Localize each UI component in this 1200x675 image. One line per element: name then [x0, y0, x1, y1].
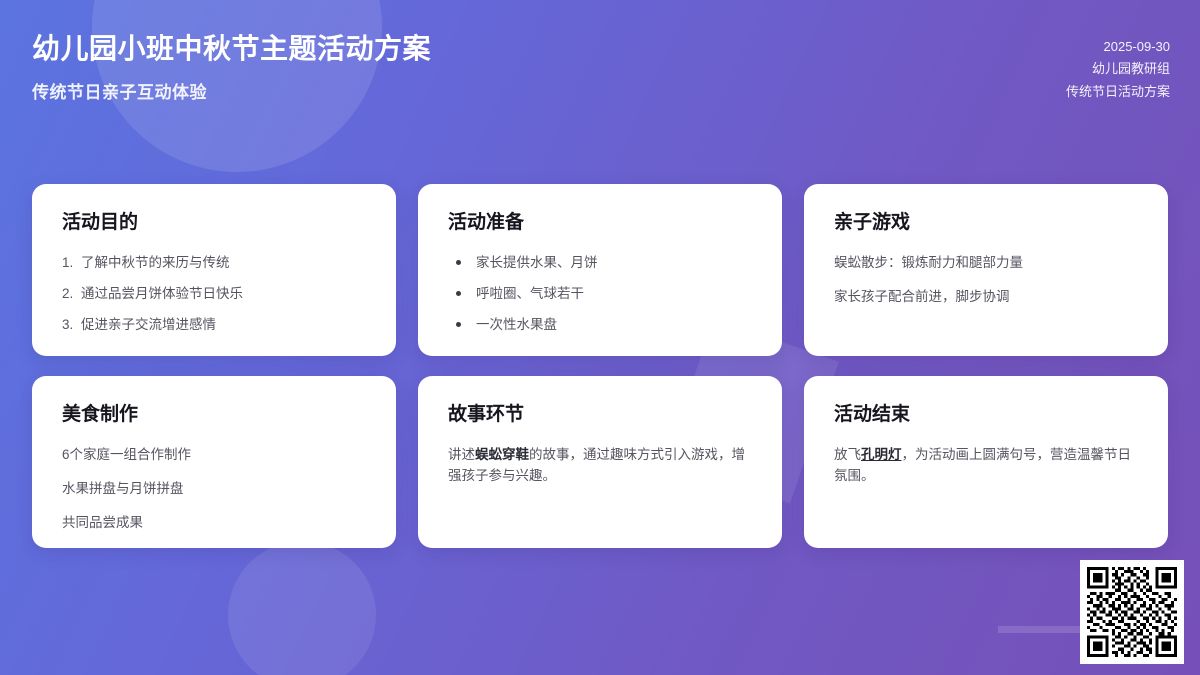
card-paragraph: 家长孩子配合前进，脚步协调 — [834, 287, 1138, 308]
slide-header: 幼儿园小班中秋节主题活动方案 传统节日亲子互动体验 2025-09-30 幼儿园… — [0, 0, 1200, 150]
decorative-bar — [998, 626, 1082, 633]
card-story-session[interactable]: 故事环节 讲述蜈蚣穿鞋的故事，通过趣味方式引入游戏，增强孩子参与兴趣。 — [418, 376, 782, 548]
list-item: 1.了解中秋节的来历与传统 — [62, 253, 366, 284]
card-paragraph: 讲述蜈蚣穿鞋的故事，通过趣味方式引入游戏，增强孩子参与兴趣。 — [448, 445, 752, 487]
meta-author: 幼儿园教研组 — [1066, 58, 1170, 80]
card-title: 故事环节 — [448, 404, 752, 427]
card-title: 活动结束 — [834, 404, 1138, 427]
list-item: 呼啦圈、气球若干 — [448, 284, 752, 315]
list-item: 3.促进亲子交流增进感情 — [62, 315, 366, 346]
card-title: 活动准备 — [448, 212, 752, 235]
page-title: 幼儿园小班中秋节主题活动方案 — [32, 32, 431, 66]
card-activity-preparation[interactable]: 活动准备 家长提供水果、月饼 呼啦圈、气球若干 一次性水果盘 — [418, 184, 782, 356]
header-meta-block: 2025-09-30 幼儿园教研组 传统节日活动方案 — [1066, 26, 1170, 103]
list-item: 2.通过品尝月饼体验节日快乐 — [62, 284, 366, 315]
card-activity-purpose[interactable]: 活动目的 1.了解中秋节的来历与传统 2.通过品尝月饼体验节日快乐 3.促进亲子… — [32, 184, 396, 356]
card-food-making[interactable]: 美食制作 6个家庭一组合作制作 水果拼盘与月饼拼盘 共同品尝成果 — [32, 376, 396, 548]
card-paragraph: 放飞孔明灯，为活动画上圆满句号，营造温馨节日氛围。 — [834, 445, 1138, 487]
decorative-circle-bottom — [228, 541, 376, 675]
meta-date: 2025-09-30 — [1066, 36, 1170, 58]
card-text-block: 蜈蚣散步：锻炼耐力和腿部力量 家长孩子配合前进，脚步协调 — [834, 253, 1138, 308]
list-item-number: 1. — [62, 253, 73, 273]
card-paragraph: 6个家庭一组合作制作 — [62, 445, 366, 479]
card-paragraph: 水果拼盘与月饼拼盘 — [62, 479, 366, 513]
paragraph-text-before: 讲述 — [448, 447, 475, 462]
qr-code-panel[interactable] — [1080, 560, 1184, 664]
list-item: 一次性水果盘 — [448, 315, 752, 346]
list-item-label: 通过品尝月饼体验节日快乐 — [81, 286, 243, 301]
card-paragraph: 共同品尝成果 — [62, 513, 366, 534]
list-item-label: 促进亲子交流增进感情 — [81, 317, 216, 332]
page-subtitle: 传统节日亲子互动体验 — [32, 78, 431, 103]
card-activity-closing[interactable]: 活动结束 放飞孔明灯，为活动画上圆满句号，营造温馨节日氛围。 — [804, 376, 1168, 548]
card-title: 美食制作 — [62, 404, 366, 427]
card-text-block: 放飞孔明灯，为活动画上圆满句号，营造温馨节日氛围。 — [834, 445, 1138, 487]
slide: 幼儿园小班中秋节主题活动方案 传统节日亲子互动体验 2025-09-30 幼儿园… — [0, 0, 1200, 675]
list-item-number: 2. — [62, 284, 73, 304]
list-item-label: 了解中秋节的来历与传统 — [81, 255, 230, 270]
meta-category: 传统节日活动方案 — [1066, 81, 1170, 103]
card-text-block: 6个家庭一组合作制作 水果拼盘与月饼拼盘 共同品尝成果 — [62, 445, 366, 534]
header-title-block: 幼儿园小班中秋节主题活动方案 传统节日亲子互动体验 — [32, 26, 431, 103]
card-grid: 活动目的 1.了解中秋节的来历与传统 2.通过品尝月饼体验节日快乐 3.促进亲子… — [32, 184, 1168, 548]
card-title: 亲子游戏 — [834, 212, 1138, 235]
card-title: 活动目的 — [62, 212, 366, 235]
card-parent-child-game[interactable]: 亲子游戏 蜈蚣散步：锻炼耐力和腿部力量 家长孩子配合前进，脚步协调 — [804, 184, 1168, 356]
qr-code-icon — [1087, 567, 1177, 657]
card-bullet-list: 家长提供水果、月饼 呼啦圈、气球若干 一次性水果盘 — [448, 253, 752, 347]
list-item-number: 3. — [62, 315, 73, 335]
card-paragraph: 蜈蚣散步：锻炼耐力和腿部力量 — [834, 253, 1138, 287]
card-ordered-list: 1.了解中秋节的来历与传统 2.通过品尝月饼体验节日快乐 3.促进亲子交流增进感… — [62, 253, 366, 347]
paragraph-text-before: 放飞 — [834, 447, 861, 462]
card-text-block: 讲述蜈蚣穿鞋的故事，通过趣味方式引入游戏，增强孩子参与兴趣。 — [448, 445, 752, 487]
list-item: 家长提供水果、月饼 — [448, 253, 752, 284]
paragraph-emphasis: 孔明灯 — [861, 447, 902, 462]
paragraph-emphasis: 蜈蚣穿鞋 — [475, 447, 529, 462]
